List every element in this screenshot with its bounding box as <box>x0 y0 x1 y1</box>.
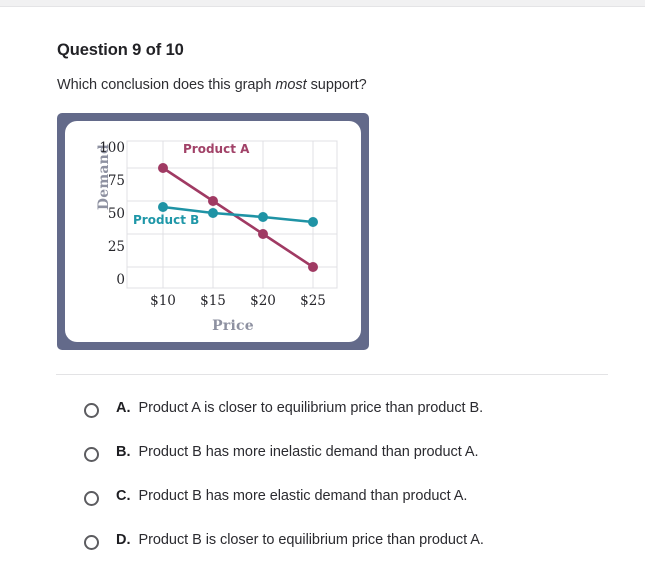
option-letter-a: A. <box>116 400 131 416</box>
x-tick-label: $25 <box>290 293 336 309</box>
y-tick-label: 75 <box>85 173 125 189</box>
radio-button-d[interactable] <box>84 535 99 550</box>
option-text-a: Product A is closer to equilibrium price… <box>139 400 484 416</box>
x-axis-ticks: $10 $15 $20 $25 <box>127 293 337 315</box>
section-divider <box>56 374 608 375</box>
y-tick-label: 0 <box>85 272 125 288</box>
radio-button-a[interactable] <box>84 403 99 418</box>
plot-area: Product A Product B <box>127 141 337 288</box>
option-text-c: Product B has more elastic demand than p… <box>139 488 468 504</box>
answer-option-a[interactable]: A. Product A is closer to equilibrium pr… <box>84 400 604 444</box>
question-prompt: Which conclusion does this graph most su… <box>57 77 367 93</box>
x-axis-title: Price <box>65 318 361 334</box>
x-tick-label: $20 <box>240 293 286 309</box>
answer-option-d[interactable]: D. Product B is closer to equilibrium pr… <box>84 532 604 576</box>
answer-options: A. Product A is closer to equilibrium pr… <box>84 400 604 576</box>
chart-inner: Demand 100 75 50 25 0 <box>65 121 361 342</box>
answer-option-c[interactable]: C. Product B has more elastic demand tha… <box>84 488 604 532</box>
prompt-text-after: support? <box>307 77 367 93</box>
option-letter-d: D. <box>116 532 131 548</box>
chart-figure: Demand 100 75 50 25 0 <box>57 113 369 350</box>
top-bar <box>0 0 645 7</box>
option-letter-c: C. <box>116 488 131 504</box>
option-text-d: Product B is closer to equilibrium price… <box>139 532 484 548</box>
y-tick-label: 25 <box>85 239 125 255</box>
chart-card: Demand 100 75 50 25 0 <box>65 121 361 342</box>
y-tick-label: 50 <box>85 206 125 222</box>
x-tick-label: $10 <box>140 293 186 309</box>
x-tick-label: $15 <box>190 293 236 309</box>
option-text-b: Product B has more inelastic demand than… <box>139 444 479 460</box>
y-axis-ticks: 100 75 50 25 0 <box>83 148 125 288</box>
option-letter-b: B. <box>116 444 131 460</box>
series-label-product-b: Product B <box>133 213 199 227</box>
y-tick-label: 100 <box>85 140 125 156</box>
prompt-emphasis: most <box>275 77 306 93</box>
series-label-product-a: Product A <box>183 142 249 156</box>
prompt-text-before: Which conclusion does this graph <box>57 77 275 93</box>
answer-option-b[interactable]: B. Product B has more inelastic demand t… <box>84 444 604 488</box>
radio-button-b[interactable] <box>84 447 99 462</box>
question-counter: Question 9 of 10 <box>57 41 184 60</box>
radio-button-c[interactable] <box>84 491 99 506</box>
